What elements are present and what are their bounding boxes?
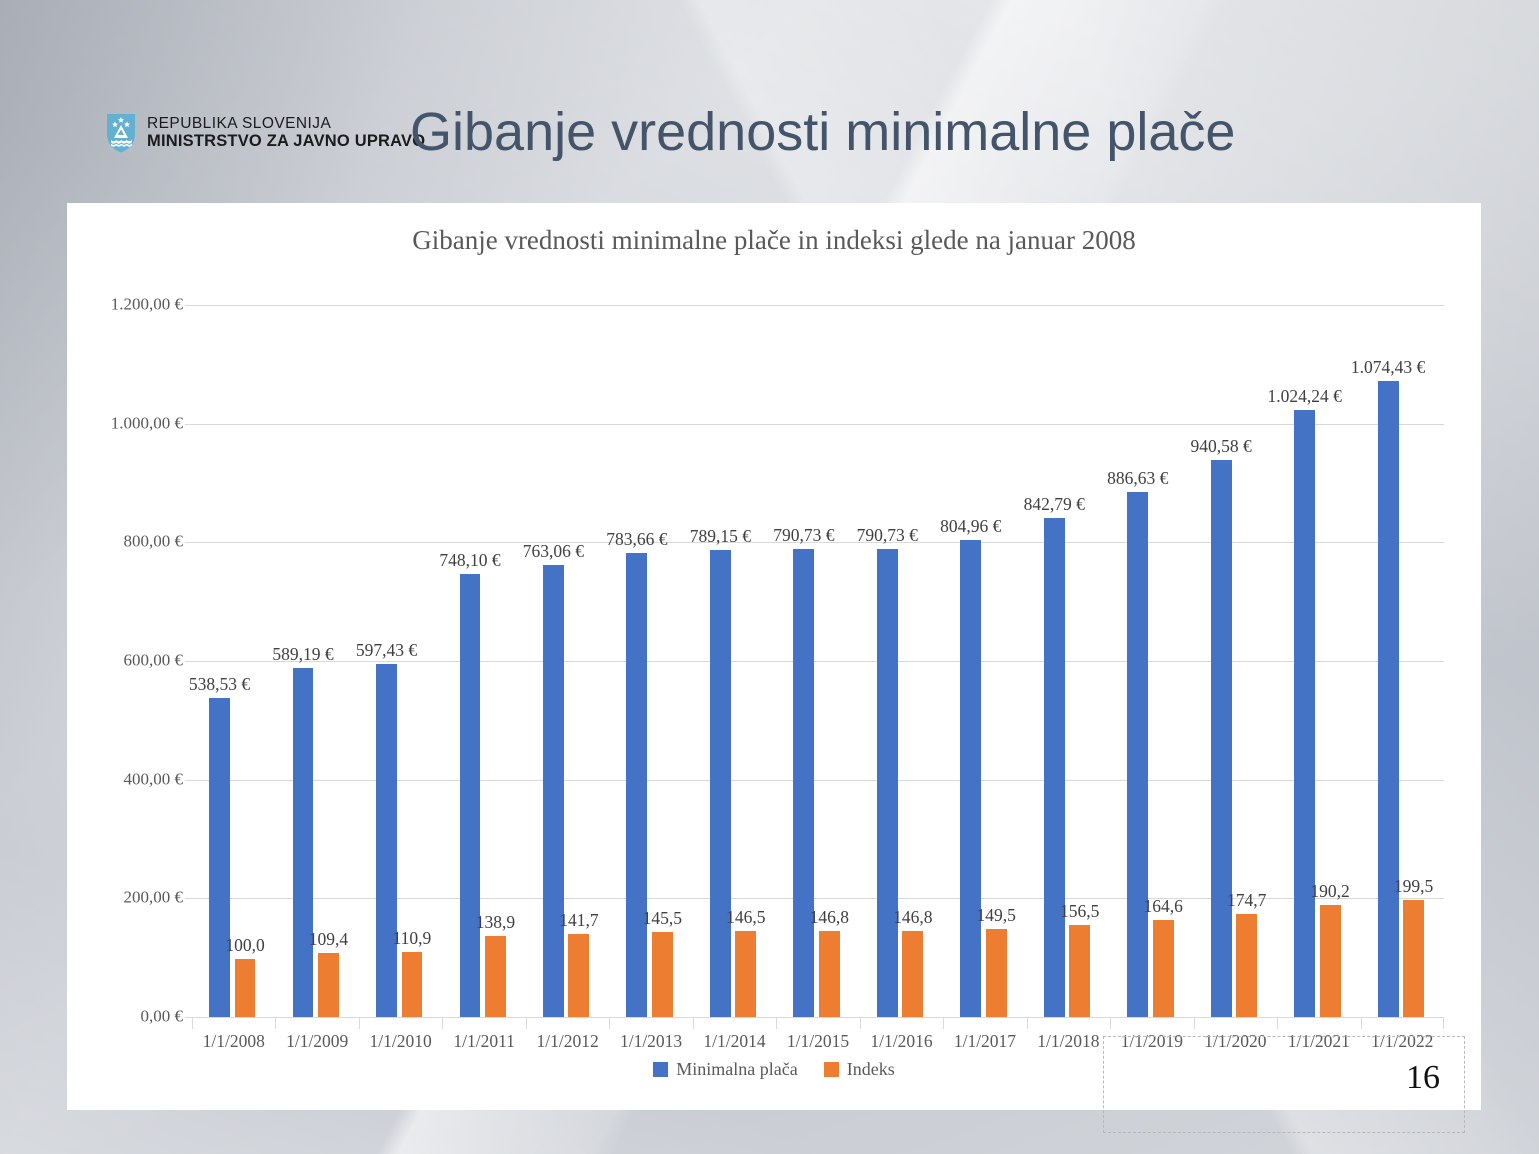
x-axis-tick-label: 1/1/2013 [609, 1018, 692, 1060]
bar-group: 1.024,24 €190,2 [1277, 306, 1360, 1018]
organization-name: REPUBLIKA SLOVENIJA MINISTRSTVO ZA JAVNO… [147, 115, 425, 151]
data-label-index: 141,7 [559, 910, 598, 931]
y-axis-tick-mark [185, 898, 192, 899]
bar-group: 804,96 €149,5 [943, 306, 1026, 1018]
data-label-index: 149,5 [977, 905, 1016, 926]
plot-area: 0,00 €200,00 €400,00 €600,00 €800,00 €1.… [192, 306, 1444, 1018]
data-label-index: 199,5 [1394, 876, 1433, 897]
bar-salary[interactable] [877, 549, 898, 1018]
data-label-salary: 804,96 € [940, 516, 1001, 537]
bar-index[interactable] [1069, 925, 1090, 1018]
slovenia-coat-of-arms-icon [105, 112, 137, 154]
y-axis-tick-label: 200,00 € [124, 888, 184, 908]
bar-group: 538,53 €100,0 [192, 306, 275, 1018]
bar-salary[interactable] [1127, 492, 1148, 1018]
x-axis-tick-label: 1/1/2015 [776, 1018, 859, 1060]
y-axis-tick-label: 1.200,00 € [111, 295, 183, 315]
bar-index[interactable] [902, 931, 923, 1018]
bar-salary[interactable] [626, 553, 647, 1018]
data-label-salary: 589,19 € [272, 644, 333, 665]
legend-label-minimalna-placa: Minimalna plača [676, 1059, 797, 1080]
bar-salary[interactable] [1211, 460, 1232, 1018]
bar-salary[interactable] [710, 550, 731, 1018]
bar-group: 842,79 €156,5 [1027, 306, 1110, 1018]
bar-index[interactable] [986, 929, 1007, 1018]
bar-index[interactable] [1320, 905, 1341, 1018]
data-label-index: 164,6 [1143, 896, 1182, 917]
bar-index[interactable] [1403, 900, 1424, 1018]
data-label-salary: 940,58 € [1191, 436, 1252, 457]
bar-group: 748,10 €138,9 [442, 306, 525, 1018]
bar-group: 789,15 €146,5 [693, 306, 776, 1018]
bar-salary[interactable] [543, 565, 564, 1018]
y-axis-tick-mark [185, 542, 192, 543]
bar-salary[interactable] [960, 540, 981, 1018]
y-axis-tick-mark [185, 424, 192, 425]
y-axis-tick-label: 600,00 € [124, 651, 184, 671]
bar-index[interactable] [1153, 920, 1174, 1018]
x-axis-tick-label: 1/1/2014 [693, 1018, 776, 1060]
y-axis-tick-mark [185, 780, 192, 781]
data-label-salary: 748,10 € [439, 550, 500, 571]
organization-line-1: REPUBLIKA SLOVENIJA [147, 115, 425, 132]
data-label-salary: 783,66 € [606, 529, 667, 550]
data-label-salary: 763,06 € [523, 541, 584, 562]
bar-index[interactable] [652, 932, 673, 1018]
data-label-index: 100,0 [225, 935, 264, 956]
bar-group: 589,19 €109,4 [275, 306, 358, 1018]
bar-index[interactable] [819, 931, 840, 1018]
page-number: 16 [1406, 1059, 1440, 1097]
x-axis-tick-label: 1/1/2011 [442, 1018, 525, 1060]
bar-index[interactable] [402, 952, 423, 1018]
page-number-placeholder[interactable]: 16 [1103, 1036, 1465, 1133]
data-label-salary: 538,53 € [189, 674, 250, 695]
bar-salary[interactable] [460, 574, 481, 1018]
bar-group: 886,63 €164,6 [1110, 306, 1193, 1018]
data-label-index: 146,8 [893, 907, 932, 928]
data-label-index: 190,2 [1310, 881, 1349, 902]
y-axis-tick-label: 1.000,00 € [111, 413, 183, 433]
x-axis-tick-label: 1/1/2017 [943, 1018, 1026, 1060]
data-label-salary: 790,73 € [773, 525, 834, 546]
y-axis-tick-mark [185, 305, 192, 306]
bar-group: 940,58 €174,7 [1194, 306, 1277, 1018]
legend-swatch-minimalna-placa [653, 1062, 668, 1077]
bar-index[interactable] [235, 959, 256, 1018]
slide-header: REPUBLIKA SLOVENIJA MINISTRSTVO ZA JAVNO… [0, 0, 1539, 200]
bar-index[interactable] [1236, 914, 1257, 1018]
data-label-salary: 789,15 € [690, 526, 751, 547]
x-axis-tick-label: 1/1/2009 [275, 1018, 358, 1060]
y-axis-tick-label: 400,00 € [124, 769, 184, 789]
legend-item-indeks: Indeks [824, 1059, 895, 1080]
y-axis-tick-mark [185, 661, 192, 662]
data-label-index: 156,5 [1060, 901, 1099, 922]
bar-index[interactable] [318, 953, 339, 1018]
bar-group: 790,73 €146,8 [776, 306, 859, 1018]
data-label-salary: 1.074,43 € [1351, 357, 1425, 378]
bar-salary[interactable] [376, 664, 397, 1018]
bar-salary[interactable] [293, 668, 314, 1018]
bar-group: 597,43 €110,9 [359, 306, 442, 1018]
data-label-salary: 886,63 € [1107, 468, 1168, 489]
data-label-salary: 597,43 € [356, 640, 417, 661]
y-axis-tick-mark [185, 1017, 192, 1018]
bar-salary[interactable] [793, 549, 814, 1018]
data-label-index: 110,9 [393, 928, 432, 949]
data-label-index: 145,5 [643, 908, 682, 929]
legend-swatch-indeks [824, 1062, 839, 1077]
chart-panel: Gibanje vrednosti minimalne plače in ind… [67, 203, 1481, 1110]
bar-index[interactable] [735, 931, 756, 1018]
x-axis-tick-label: 1/1/2018 [1027, 1018, 1110, 1060]
y-axis-tick-label: 0,00 € [141, 1007, 184, 1027]
bar-group: 1.074,43 €199,5 [1361, 306, 1444, 1018]
data-label-index: 109,4 [309, 929, 348, 950]
data-label-index: 174,7 [1227, 890, 1266, 911]
bar-index[interactable] [485, 936, 506, 1018]
y-axis-tick-label: 800,00 € [124, 532, 184, 552]
bar-group: 763,06 €141,7 [526, 306, 609, 1018]
data-label-salary: 790,73 € [857, 525, 918, 546]
legend-label-indeks: Indeks [847, 1059, 895, 1080]
legend-item-minimalna-placa: Minimalna plača [653, 1059, 797, 1080]
x-axis-tick-label: 1/1/2008 [192, 1018, 275, 1060]
bar-salary[interactable] [209, 698, 230, 1018]
bar-group: 790,73 €146,8 [860, 306, 943, 1018]
bar-series-container: 538,53 €100,0589,19 €109,4597,43 €110,97… [192, 306, 1444, 1018]
organization-line-2: MINISTRSTVO ZA JAVNO UPRAVO [147, 132, 425, 150]
page-title: Gibanje vrednosti minimalne plače [410, 101, 1310, 163]
slide: REPUBLIKA SLOVENIJA MINISTRSTVO ZA JAVNO… [0, 0, 1539, 1154]
data-label-index: 146,8 [810, 907, 849, 928]
x-axis-tick-label: 1/1/2016 [860, 1018, 943, 1060]
data-label-index: 146,5 [726, 907, 765, 928]
bar-salary[interactable] [1378, 381, 1399, 1018]
x-axis-tick-label: 1/1/2010 [359, 1018, 442, 1060]
bar-salary[interactable] [1044, 518, 1065, 1018]
bar-index[interactable] [568, 934, 589, 1018]
data-label-salary: 1.024,24 € [1267, 386, 1341, 407]
data-label-index: 138,9 [476, 912, 515, 933]
bar-salary[interactable] [1294, 410, 1315, 1018]
data-label-salary: 842,79 € [1024, 494, 1085, 515]
organization-logo: REPUBLIKA SLOVENIJA MINISTRSTVO ZA JAVNO… [105, 112, 425, 154]
chart-title: Gibanje vrednosti minimalne plače in ind… [67, 225, 1481, 256]
x-axis-tick-label: 1/1/2012 [526, 1018, 609, 1060]
bar-group: 783,66 €145,5 [609, 306, 692, 1018]
